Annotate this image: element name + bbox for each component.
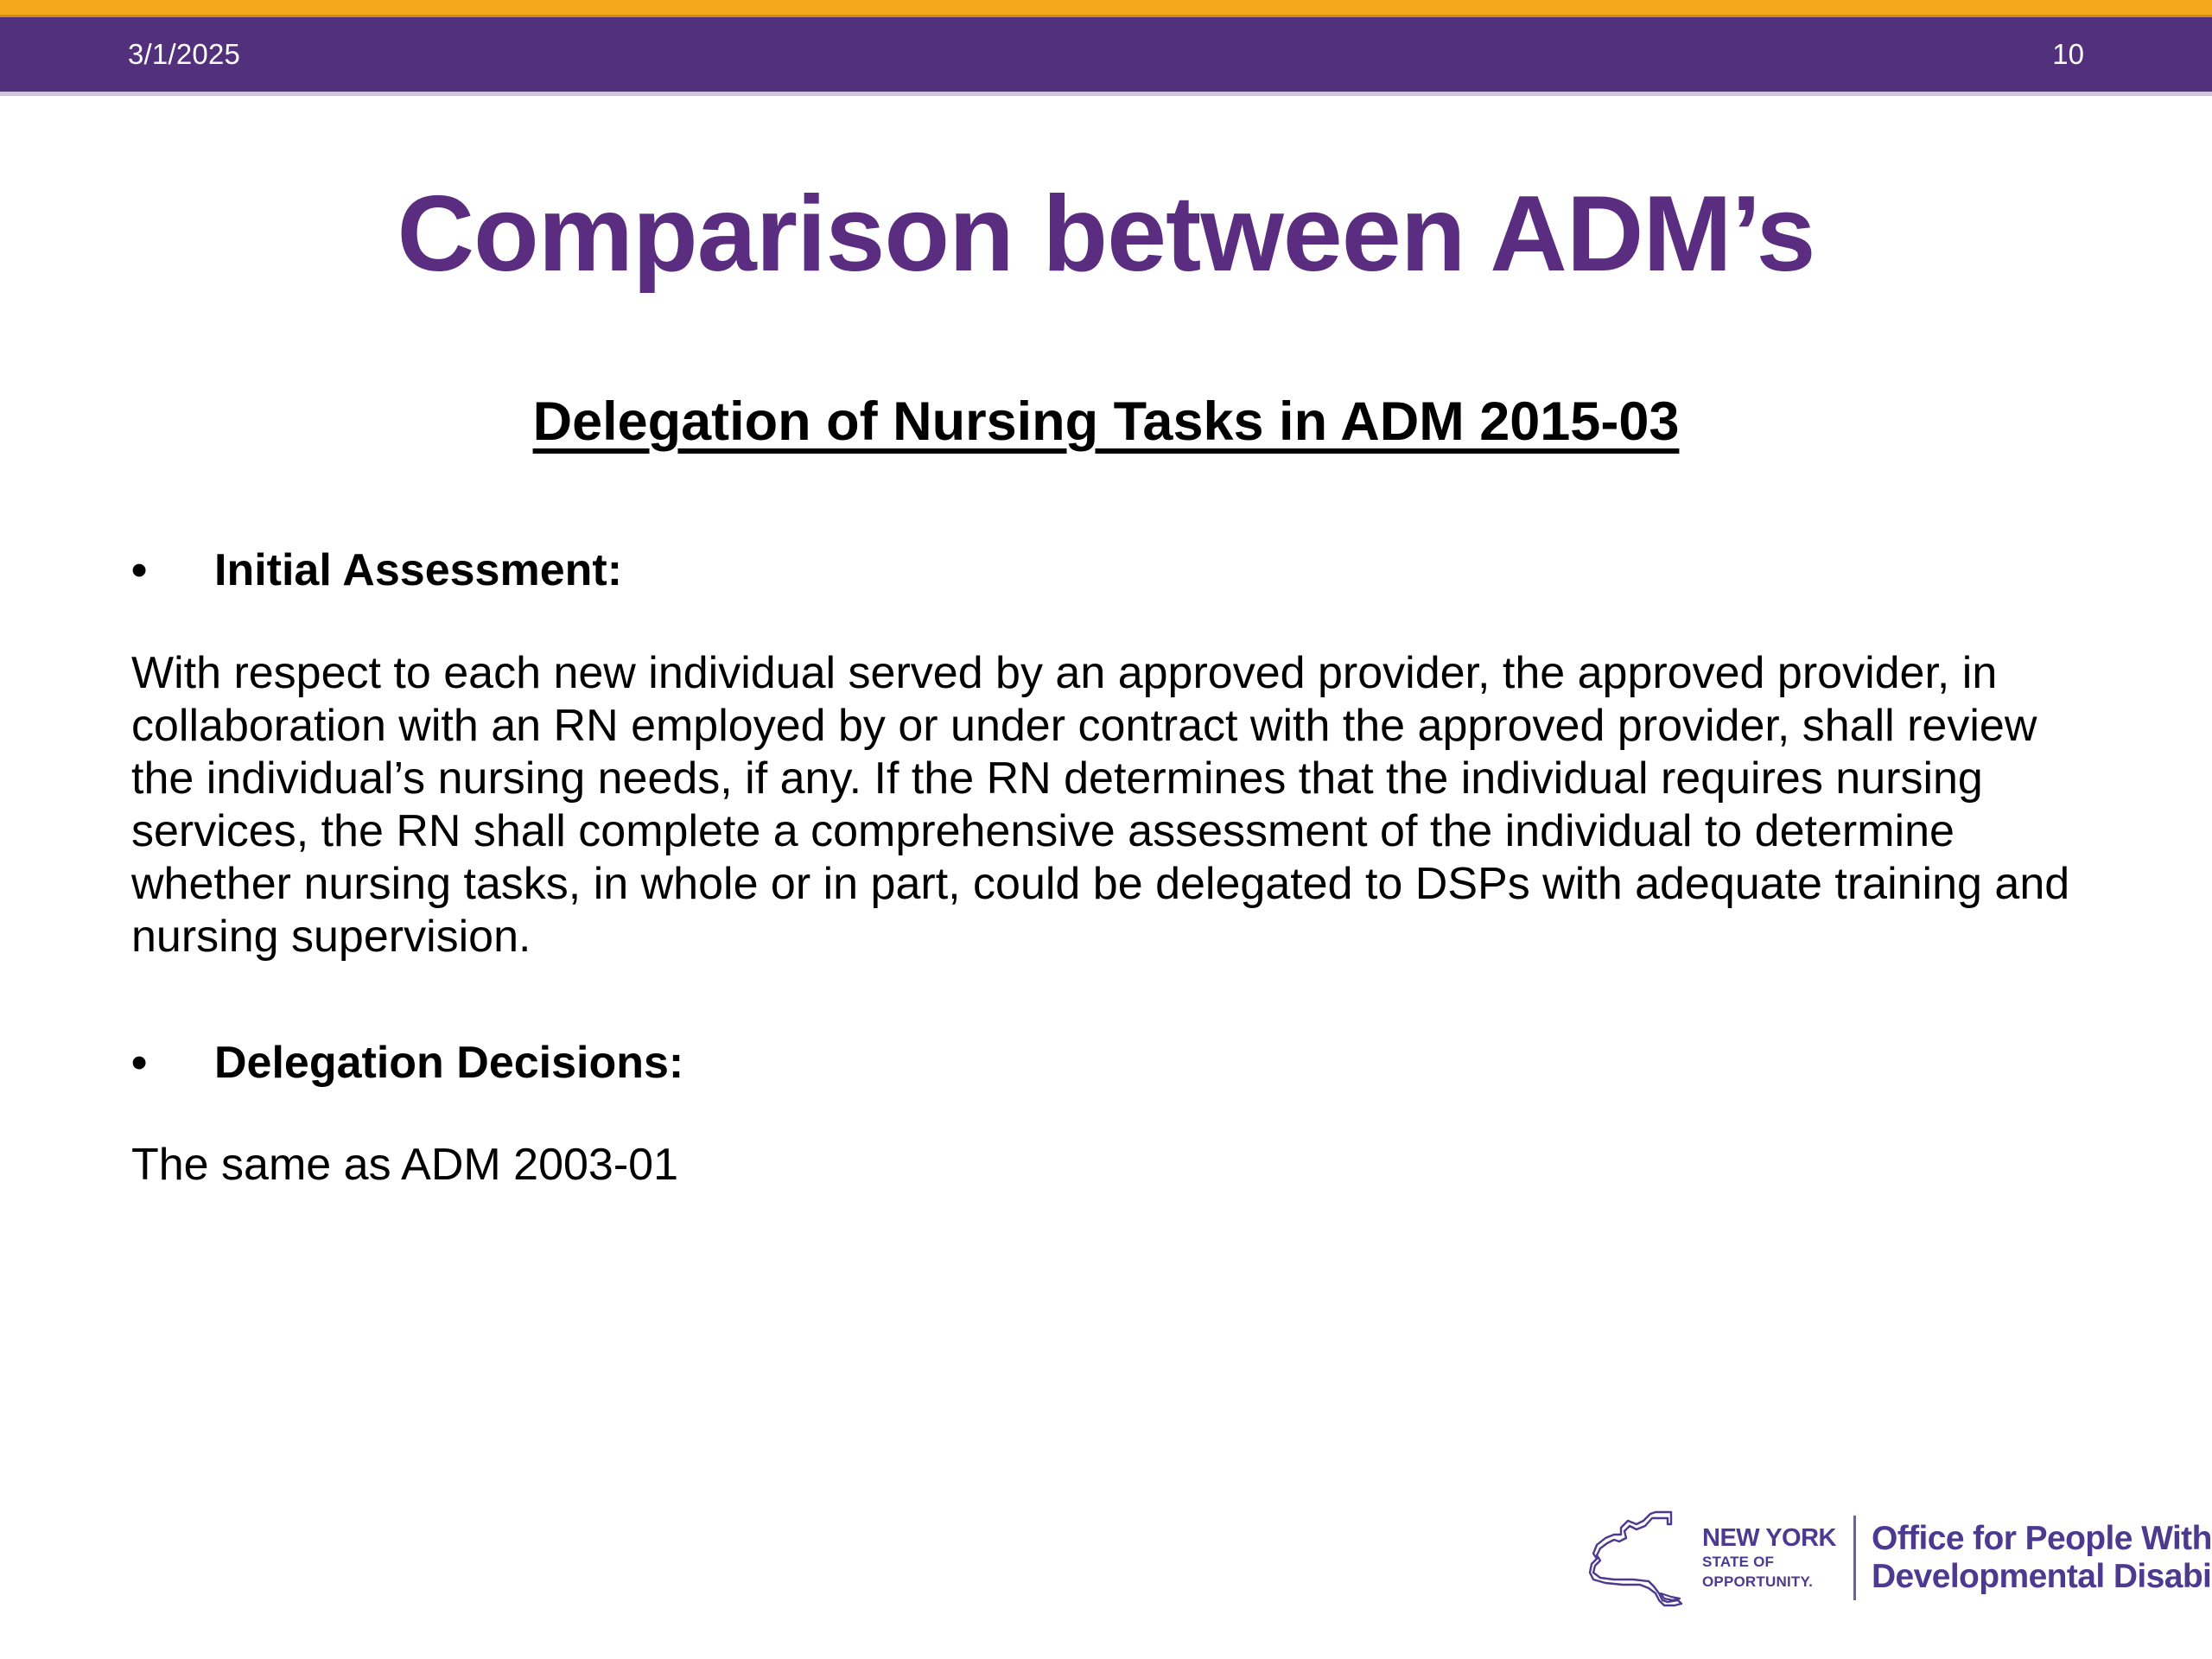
slide-subtitle: Delegation of Nursing Tasks in ADM 2015-… — [0, 391, 2212, 453]
new-york-state-wordmark: NEW YORK STATE OF OPPORTUNITY. — [1702, 1526, 1836, 1589]
opwdd-logo: NEW YORK STATE OF OPPORTUNITY. Office fo… — [1588, 1502, 2184, 1614]
slide-subtitle-text: Delegation of Nursing Tasks in ADM 2015-… — [533, 391, 1680, 452]
agency-name: Office for People With Developmental Dis… — [1872, 1520, 2212, 1595]
agency-name-line-1: Office for People With — [1872, 1520, 2212, 1558]
slide-body: • Initial Assessment: With respect to ea… — [131, 544, 2110, 1192]
body-spacer — [131, 963, 2110, 1037]
slide-date: 3/1/2025 — [128, 38, 240, 71]
paragraph-initial-assessment: With respect to each new individual serv… — [131, 647, 2071, 963]
bullet-item-initial-assessment: • Initial Assessment: — [131, 544, 2110, 597]
bullet-item-delegation-decisions: • Delegation Decisions: — [131, 1037, 2110, 1090]
opportunity-label: OPPORTUNITY. — [1702, 1573, 1836, 1590]
bullet-label-initial-assessment: Initial Assessment: — [214, 544, 622, 597]
slide-page-number: 10 — [2052, 38, 2084, 71]
header-purple-band — [0, 17, 2212, 92]
logo-divider — [1853, 1516, 1856, 1600]
paragraph-delegation-decisions: The same as ADM 2003-01 — [131, 1139, 2110, 1192]
header-bottom-rule — [0, 92, 2212, 96]
bullet-marker-icon: • — [131, 544, 214, 597]
bullet-label-delegation-decisions: Delegation Decisions: — [214, 1037, 683, 1090]
state-of-label: STATE OF — [1702, 1554, 1836, 1570]
new-york-label: NEW YORK — [1702, 1526, 1836, 1551]
bullet-marker-icon: • — [131, 1037, 214, 1090]
new-york-state-outline-icon — [1588, 1507, 1699, 1609]
agency-name-line-2: Developmental Disabilities — [1872, 1558, 2212, 1596]
slide-title: Comparison between ADM’s — [0, 178, 2212, 290]
